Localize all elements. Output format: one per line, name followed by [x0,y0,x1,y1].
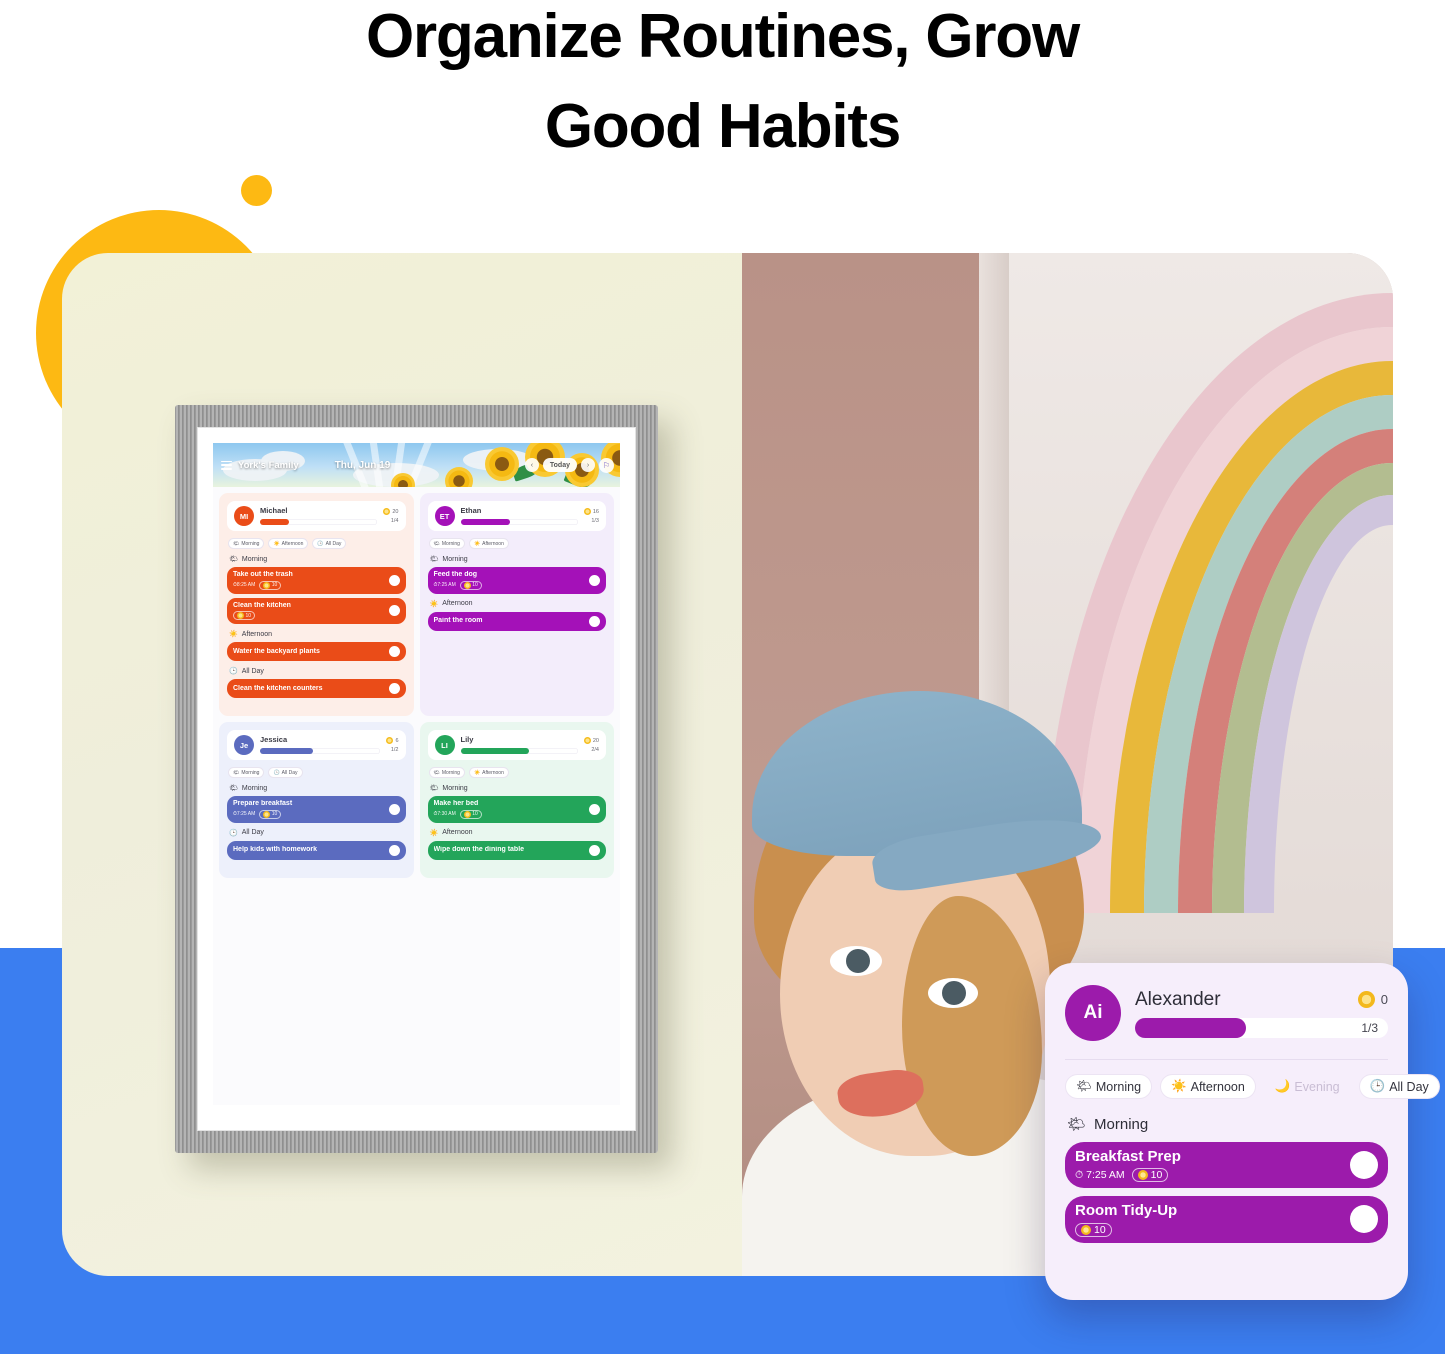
chip-glyph-icon: 🌤 [233,770,239,776]
page-title: Organize Routines, Grow Good Habits [0,6,1445,158]
task-title: Paint the room [434,617,586,625]
task-title: Wipe down the dining table [434,846,586,854]
task-points: 10 [1132,1168,1169,1182]
prev-day-button[interactable]: ‹ [525,458,539,472]
chip-afternoon[interactable]: ☀️Afternoon [268,538,308,549]
coin-count: 0 [1381,992,1388,1007]
chip-afternoon[interactable]: ☀️Afternoon [469,538,509,549]
child-pupil-left [846,949,870,973]
headline-line-2: Good Habits [0,96,1445,158]
task-meta: 10 [233,611,385,620]
task-item[interactable]: Clean the kitchen counters [227,679,406,698]
task-title: Clean the kitchen [233,602,385,610]
progress-label: 1/2 [386,747,398,753]
task-body: Paint the room [434,617,586,625]
task-toggle[interactable] [389,646,400,657]
task-item[interactable]: Paint the room [428,612,607,631]
member-name: Alexander [1135,989,1221,1011]
task-body: Wipe down the dining table [434,846,586,854]
section-glyph-icon: ☀️ [430,600,439,608]
coin-counter: 0 [1358,991,1388,1008]
chip-all-day[interactable]: 🕒All Day [1359,1074,1440,1099]
member-stats: 61/2 [386,737,398,753]
section-header: ☀️Afternoon [430,600,607,608]
task-toggle[interactable] [589,804,600,815]
coin-icon [464,582,471,589]
section-header: 🌤Morning [430,784,607,792]
chip-morning[interactable]: 🌤Morning [429,538,465,549]
progress-label: 1/4 [383,518,398,524]
task-meta: 10 [1075,1223,1342,1237]
task-time: ⏱8:25 AM [233,582,255,588]
divider [1065,1059,1388,1060]
time-filter-chips: 🌤Morning☀️Afternoon [429,767,607,778]
section-title: Morning [242,556,267,563]
progress-bar [260,748,380,754]
section-glyph-icon: 🌤 [430,555,439,563]
task-toggle[interactable] [1350,1151,1378,1179]
task-toggle[interactable] [1350,1205,1378,1233]
tablet-screen[interactable]: York's Family Thu, Jun 19 ‹ Today › ⚐ MI… [213,443,620,1105]
section-header: 🌤Morning [229,555,406,563]
section-glyph-icon: 🌤 [229,784,238,792]
task-title: Feed the dog [434,571,586,579]
chip-afternoon[interactable]: ☀️Afternoon [1160,1074,1256,1099]
section-title: Afternoon [442,829,472,836]
section-glyph-icon: 🕒 [229,829,238,837]
chip-glyph-icon: 🕒 [273,770,279,776]
coin-icon [1081,1225,1091,1235]
progress-bar [461,519,578,525]
task-item[interactable]: Feed the dog⏱7:25 AM10 [428,567,607,594]
section-header: ☀️Afternoon [229,630,406,638]
chip-glyph-icon: 🕒 [317,541,323,547]
task-title: Take out the trash [233,571,385,579]
section-header: 🌤Morning [229,784,406,792]
time-filter-chips: 🌤Morning🕒All Day [228,767,406,778]
section-glyph-icon: 🌤 [229,555,238,563]
section-title: Afternoon [242,631,272,638]
task-toggle[interactable] [389,683,400,694]
task-item[interactable]: Room Tidy-Up10 [1065,1196,1388,1242]
task-body: Water the backyard plants [233,648,385,656]
chip-all-day[interactable]: 🕒All Day [268,767,302,778]
task-toggle[interactable] [389,575,400,586]
section-header: ☀️Afternoon [430,829,607,837]
task-item[interactable]: Help kids with homework [227,841,406,860]
chip-glyph-icon: 🌙 [1275,1079,1291,1094]
chip-glyph-icon: 🌤 [233,541,239,547]
task-toggle[interactable] [389,845,400,856]
current-date: Thu, Jun 19 [335,460,391,471]
promo-stage: Organize Routines, Grow Good Habits [0,0,1445,1354]
headline-line-1: Organize Routines, Grow [366,2,1079,71]
member-grid: MIMichael201/4🌤Morning☀️Afternoon🕒All Da… [213,487,620,884]
frame-mat: York's Family Thu, Jun 19 ‹ Today › ⚐ MI… [197,427,636,1131]
task-body: Take out the trash⏱8:25 AM10 [233,571,385,590]
task-item[interactable]: Wipe down the dining table [428,841,607,860]
member-summary: ETEthan161/3 [428,501,607,531]
task-title: Prepare breakfast [233,800,385,808]
section-title: Morning [442,556,467,563]
task-title: Water the backyard plants [233,648,385,656]
detail-card-header: Ai Alexander 0 1/3 [1065,985,1388,1041]
chip-evening[interactable]: 🌙Evening [1264,1074,1351,1099]
task-meta: ⏱7:25 AM10 [233,810,385,819]
section-title: Morning [242,785,267,792]
task-body: Prepare breakfast⏱7:25 AM10 [233,800,385,819]
member-name: Lily [461,736,578,744]
chip-glyph-icon: ☀️ [474,770,480,776]
avatar: LI [435,735,455,755]
section-title: All Day [242,829,264,836]
time-filter-chips: 🌤Morning☀️Afternoon🌙Evening🕒All Day [1065,1074,1388,1099]
chip-morning[interactable]: 🌤Morning [228,767,264,778]
task-title: Clean the kitchen counters [233,685,385,693]
coin-icon [383,508,390,515]
chip-glyph-icon: ☀️ [474,541,480,547]
child-pupil-right [942,981,966,1005]
coin-count: 20 [593,738,599,744]
chip-morning[interactable]: 🌤Morning [429,767,465,778]
today-button[interactable]: Today [543,458,577,472]
task-title: Breakfast Prep [1075,1148,1342,1165]
task-body: Clean the kitchen counters [233,685,385,693]
member-card[interactable]: MIMichael201/4🌤Morning☀️Afternoon🕒All Da… [219,493,414,716]
task-body: Feed the dog⏱7:25 AM10 [434,571,586,590]
coin-counter: 20 [383,508,398,515]
task-title: Make her bed [434,800,586,808]
progress-bar [461,748,578,754]
coin-icon [386,737,393,744]
member-meta: Michael [260,507,377,524]
task-meta: ⏱8:25 AM10 [233,581,385,590]
member-stats: 161/3 [584,508,599,524]
member-meta: Lily [461,736,578,753]
family-name: York's Family [238,460,299,471]
date-nav-group: ‹ Today › ⚐ [525,458,614,473]
task-body: Clean the kitchen10 [233,602,385,621]
task-body: Help kids with homework [233,846,385,854]
coin-count: 20 [392,509,398,515]
progress-label: 1/3 [1361,1021,1378,1035]
member-detail-card[interactable]: Ai Alexander 0 1/3 🌤Morning☀️Afternoon🌙E… [1045,963,1408,1300]
task-meta: ⏱7:25 AM10 [434,581,586,590]
app-header: York's Family Thu, Jun 19 ‹ Today › ⚐ [213,443,620,487]
progress-bar-fill [1135,1018,1246,1038]
member-card[interactable]: LILily202/4🌤Morning☀️Afternoon🌤MorningMa… [420,722,615,878]
hamburger-icon[interactable] [221,461,232,470]
task-body: Breakfast Prep⏱ 7:25 AM10 [1075,1148,1342,1182]
time-filter-chips: 🌤Morning☀️Afternoon🕒All Day [228,538,406,549]
chip-glyph-icon: ☀️ [1171,1079,1187,1094]
task-points: 10 [259,810,281,819]
coin-icon [464,811,471,818]
member-summary: MIMichael201/4 [227,501,406,531]
coin-icon [584,737,591,744]
task-toggle[interactable] [589,845,600,856]
avatar: ET [435,506,455,526]
avatar: Je [234,735,254,755]
task-item[interactable]: Take out the trash⏱8:25 AM10 [227,567,406,594]
coin-icon [263,811,270,818]
section-glyph-icon: 🕒 [229,667,238,675]
section-header: 🕒All Day [229,829,406,837]
member-meta: Jessica [260,736,380,753]
member-stats: 201/4 [383,508,398,524]
chip-glyph-icon: 🌤 [434,541,440,547]
chip-glyph-icon: 🌤 [1076,1079,1092,1094]
section-header: 🌤Morning [430,555,607,563]
task-body: Make her bed⏱7:30 AM10 [434,800,586,819]
task-time: ⏱7:30 AM [434,811,456,817]
task-points: 10 [1075,1223,1112,1237]
coin-counter: 16 [584,508,599,515]
section-title: Morning [442,785,467,792]
task-toggle[interactable] [389,605,400,616]
coin-icon [237,612,244,619]
task-item[interactable]: Breakfast Prep⏱ 7:25 AM10 [1065,1142,1388,1188]
task-time: ⏱7:25 AM [434,582,456,588]
chip-afternoon[interactable]: ☀️Afternoon [469,767,509,778]
dot-decoration [241,175,272,206]
task-meta: ⏱7:30 AM10 [434,810,586,819]
section-glyph-icon: 🌤 [430,784,439,792]
task-time: ⏱7:25 AM [233,811,255,817]
coin-counter: 6 [386,737,398,744]
chip-morning[interactable]: 🌤Morning [228,538,264,549]
section-glyph-icon: ☀️ [430,829,439,837]
progress-bar [260,519,377,525]
task-toggle[interactable] [389,804,400,815]
filter-icon[interactable]: ⚐ [599,458,614,473]
coin-icon [1138,1170,1148,1180]
member-card[interactable]: JeJessica61/2🌤Morning🕒All Day🌤MorningPre… [219,722,414,878]
detail-card-meta: Alexander 0 1/3 [1135,989,1388,1038]
task-item[interactable]: Clean the kitchen10 [227,598,406,625]
progress-label: 2/4 [584,747,599,753]
coin-icon [584,508,591,515]
task-points: 10 [259,581,281,590]
member-name: Ethan [461,507,578,515]
section-title: Morning [1094,1116,1148,1133]
avatar: Ai [1065,985,1121,1041]
chip-morning[interactable]: 🌤Morning [1065,1074,1152,1099]
morning-glyph-icon: 🌤 [1067,1115,1086,1133]
member-card[interactable]: ETEthan161/3🌤Morning☀️Afternoon🌤MorningF… [420,493,615,716]
coin-counter: 20 [584,737,599,744]
progress-label: 1/3 [584,518,599,524]
task-title: Help kids with homework [233,846,385,854]
picture-frame: York's Family Thu, Jun 19 ‹ Today › ⚐ MI… [175,405,658,1153]
section-title: All Day [242,668,264,675]
section-glyph-icon: ☀️ [229,630,238,638]
task-points: 10 [233,611,255,620]
task-time: ⏱ 7:25 AM [1075,1169,1125,1182]
coin-icon [263,582,270,589]
next-day-button[interactable]: › [581,458,595,472]
task-item[interactable]: Water the backyard plants [227,642,406,661]
member-stats: 202/4 [584,737,599,753]
chip-all-day[interactable]: 🕒All Day [312,538,346,549]
task-title: Room Tidy-Up [1075,1202,1342,1219]
coin-count: 16 [593,509,599,515]
chip-glyph-icon: 🌤 [434,770,440,776]
member-summary: LILily202/4 [428,730,607,760]
chip-glyph-icon: 🕒 [1370,1079,1386,1094]
task-toggle[interactable] [589,575,600,586]
task-toggle[interactable] [589,616,600,627]
progress-bar: 1/3 [1135,1018,1388,1038]
time-filter-chips: 🌤Morning☀️Afternoon [429,538,607,549]
member-summary: JeJessica61/2 [227,730,406,760]
task-item[interactable]: Make her bed⏱7:30 AM10 [428,796,607,823]
task-meta: ⏱ 7:25 AM10 [1075,1168,1342,1182]
section-header-morning: 🌤 Morning [1067,1115,1388,1133]
chip-glyph-icon: ☀️ [273,541,279,547]
task-body: Room Tidy-Up10 [1075,1202,1342,1236]
coin-count: 6 [395,738,398,744]
member-meta: Ethan [461,507,578,524]
task-item[interactable]: Prepare breakfast⏱7:25 AM10 [227,796,406,823]
section-title: Afternoon [442,600,472,607]
task-points: 10 [460,581,482,590]
coin-icon [1358,991,1375,1008]
member-name: Jessica [260,736,380,744]
section-header: 🕒All Day [229,667,406,675]
detail-task-list: Breakfast Prep⏱ 7:25 AM10Room Tidy-Up10 [1065,1142,1388,1251]
avatar: MI [234,506,254,526]
task-points: 10 [460,810,482,819]
member-name: Michael [260,507,377,515]
